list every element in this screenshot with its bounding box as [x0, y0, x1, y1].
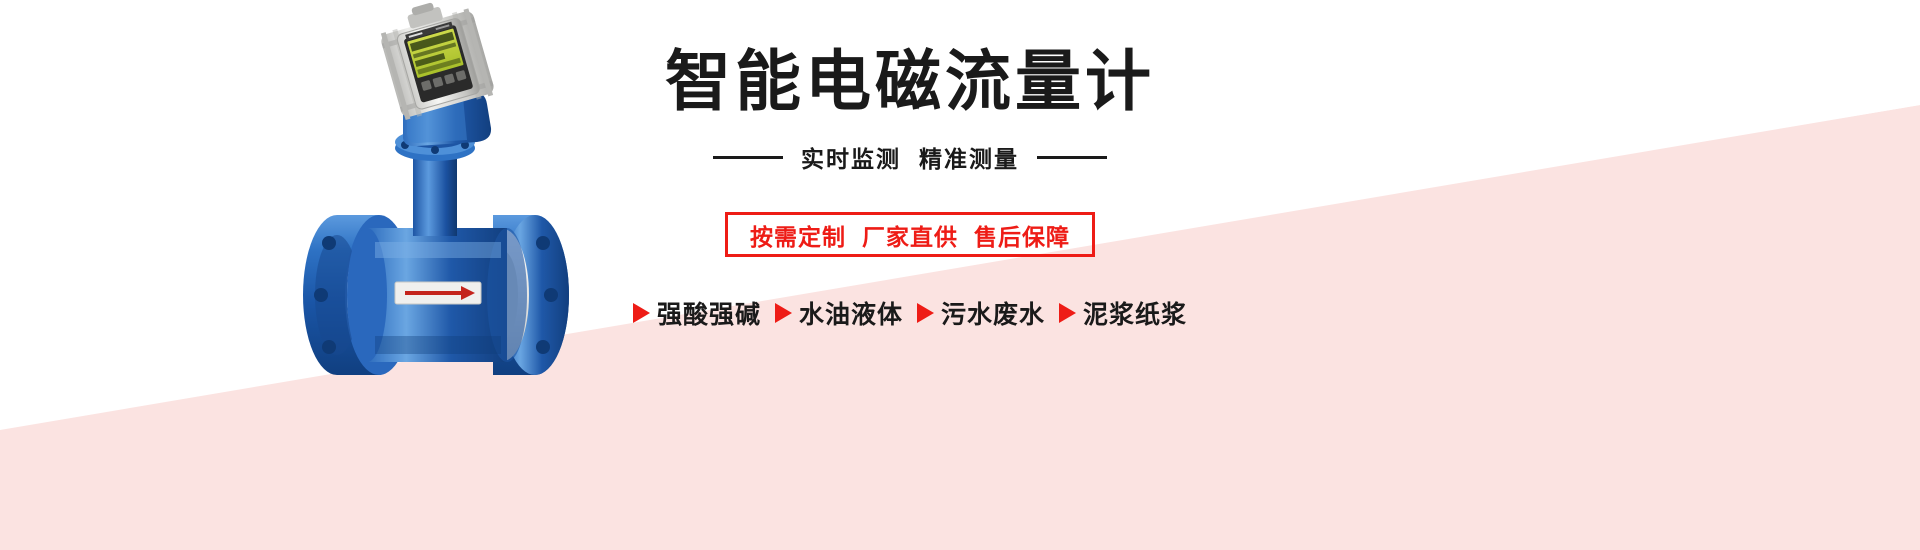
feature-label: 污水废水 [941, 295, 1045, 331]
badge-item-1: 按需定制 [750, 224, 846, 250]
triangle-right-icon [917, 303, 934, 323]
triangle-right-icon [633, 303, 650, 323]
flowmeter-illustration [303, 0, 569, 375]
triangle-right-icon [1059, 303, 1076, 323]
feature-label: 泥浆纸浆 [1083, 295, 1187, 331]
service-badge-text: 按需定制厂家直供售后保障 [750, 218, 1070, 252]
subtitle-part-2: 精准测量 [919, 146, 1019, 172]
badge-item-3: 售后保障 [974, 224, 1070, 250]
flow-direction-arrow [395, 282, 481, 304]
subtitle: 实时监测精准测量 [801, 140, 1019, 174]
feature-item: 泥浆纸浆 [1059, 295, 1187, 331]
headline-block: 智能电磁流量计 实时监测精准测量 按需定制厂家直供售后保障 强酸强碱 水油液体 … [600, 28, 1220, 428]
feature-item: 强酸强碱 [633, 295, 761, 331]
product-banner: 智能电磁流量计 实时监测精准测量 按需定制厂家直供售后保障 强酸强碱 水油液体 … [0, 0, 1920, 550]
feature-list: 强酸强碱 水油液体 污水废水 泥浆纸浆 [600, 295, 1220, 331]
feature-item: 水油液体 [775, 295, 903, 331]
subtitle-part-1: 实时监测 [801, 146, 901, 172]
feature-label: 水油液体 [799, 295, 903, 331]
divider-left [713, 156, 783, 159]
subtitle-row: 实时监测精准测量 [600, 140, 1220, 174]
divider-right [1037, 156, 1107, 159]
page-title: 智能电磁流量计 [600, 48, 1220, 114]
badge-item-2: 厂家直供 [862, 224, 958, 250]
feature-item: 污水废水 [917, 295, 1045, 331]
service-badge-box: 按需定制厂家直供售后保障 [725, 212, 1095, 257]
triangle-right-icon [775, 303, 792, 323]
feature-label: 强酸强碱 [657, 295, 761, 331]
